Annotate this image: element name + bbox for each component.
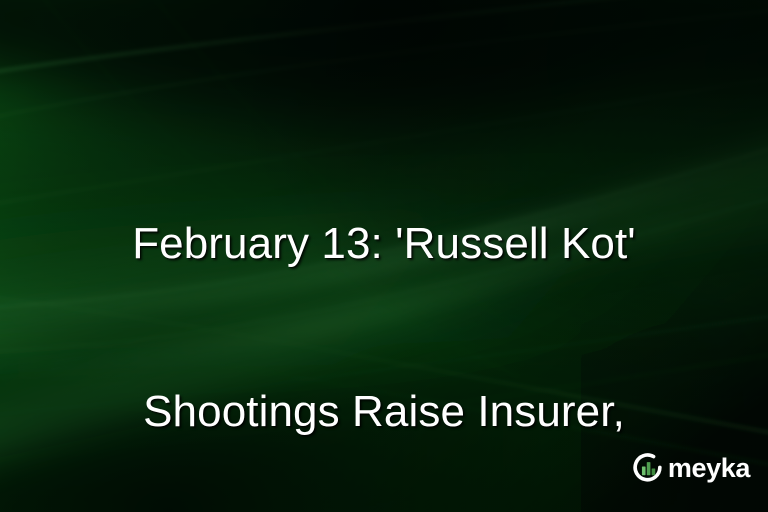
meyka-wordmark: meyka (668, 455, 750, 482)
meyka-logo[interactable]: meyka (632, 450, 750, 484)
social-share-card: February 13: 'Russell Kot' Shootings Rai… (0, 0, 768, 512)
headline-line-2: Shootings Raise Insurer, (0, 384, 768, 440)
headline-line-1: February 13: 'Russell Kot' (0, 216, 768, 272)
meyka-circle-barchart-icon (632, 452, 663, 483)
